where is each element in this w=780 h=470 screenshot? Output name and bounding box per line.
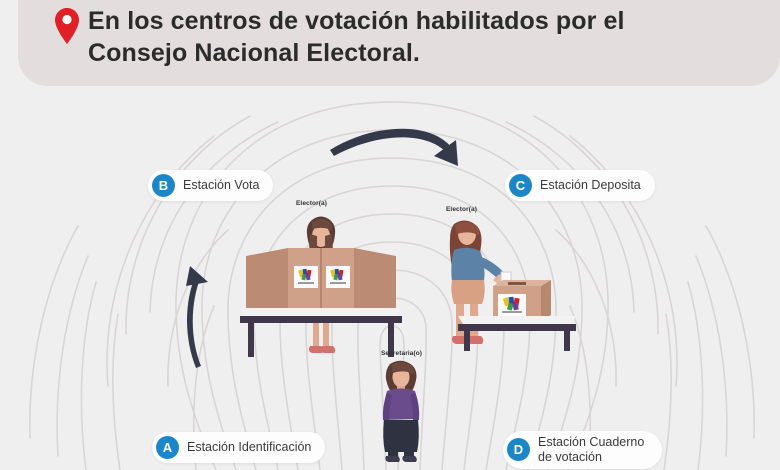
- secretary-figure-caption: Secretaria(o): [381, 350, 422, 357]
- station-badge-a[interactable]: A Estación Identificación: [152, 432, 325, 463]
- station-badge-d[interactable]: D Estación Cuaderno de votación: [503, 431, 662, 469]
- badge-letter-d: D: [507, 438, 530, 461]
- badge-letter-a: A: [156, 436, 179, 459]
- deposit-figure-caption: Elector(a): [446, 206, 477, 213]
- badge-label-d: Estación Cuaderno de votación: [538, 435, 644, 465]
- ballot-poster-right: [326, 266, 350, 288]
- location-pin-icon: [54, 7, 80, 45]
- badge-letter-b: B: [152, 174, 175, 197]
- secretary-figure: [383, 361, 419, 462]
- station-badge-c[interactable]: C Estación Deposita: [505, 170, 655, 201]
- ballot-deposit-illustration: [438, 216, 578, 351]
- header-card: En los centros de votación habilitados p…: [18, 0, 780, 86]
- badge-label-a: Estación Identificación: [187, 440, 311, 455]
- ballot-poster-left: [294, 266, 318, 288]
- infographic-canvas: Elector(a): [0, 0, 780, 470]
- badge-letter-c: C: [509, 174, 532, 197]
- booth-figure-caption: Elector(a): [296, 200, 327, 207]
- voting-booth-illustration: [236, 212, 406, 367]
- arrow-top-right-icon: [330, 129, 458, 166]
- badge-label-c: Estación Deposita: [540, 178, 641, 193]
- ballot-box: [493, 280, 551, 321]
- station-badge-b[interactable]: B Estación Vota: [148, 170, 273, 201]
- arrow-left-up-icon: [186, 266, 208, 368]
- secretary-illustration: [372, 360, 430, 462]
- header-title: En los centros de votación habilitados p…: [88, 6, 625, 69]
- booth-screen: [246, 248, 396, 312]
- badge-label-b: Estación Vota: [183, 178, 259, 193]
